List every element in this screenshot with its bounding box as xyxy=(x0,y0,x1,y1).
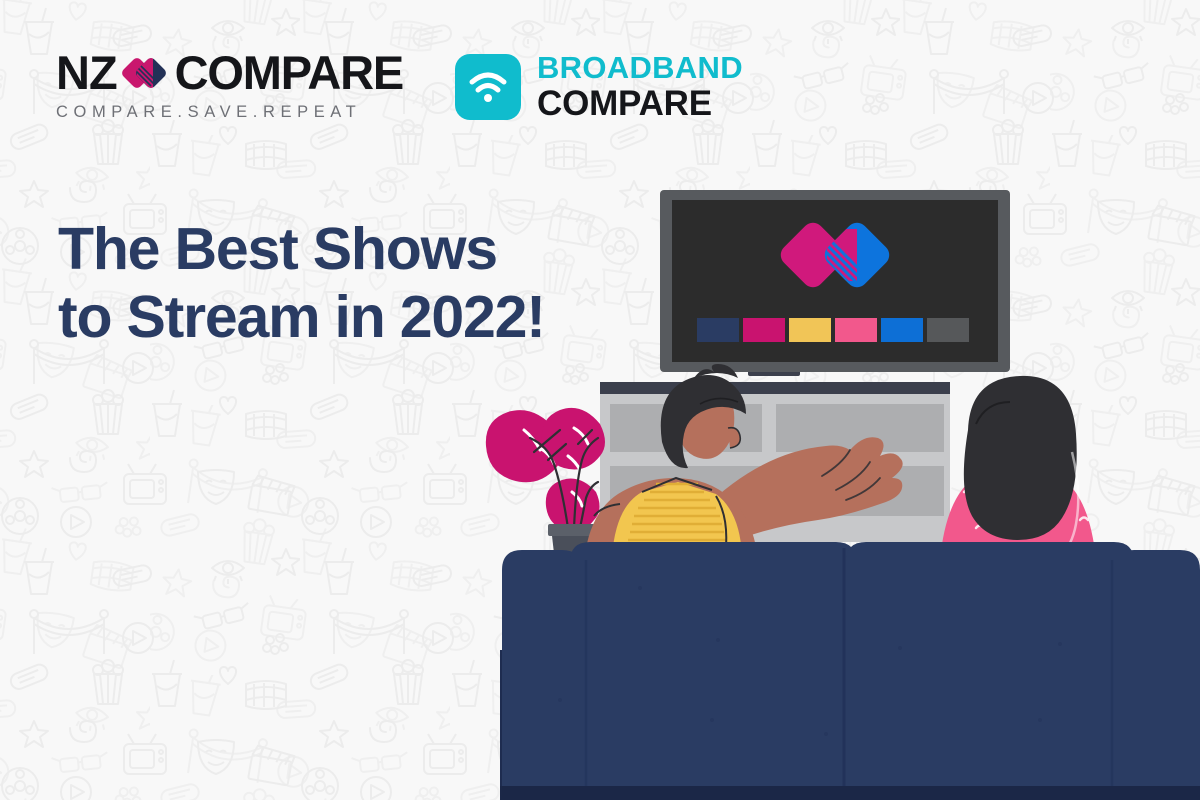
broadband-compare-tile xyxy=(455,54,521,120)
nz-compare-logo[interactable]: NZ COMPARE CO xyxy=(56,48,406,120)
nz-compare-tagline: COMPARE.SAVE.REPEAT xyxy=(56,103,406,122)
couch-cushion-right xyxy=(846,542,1134,800)
nz-compare-diamonds-icon xyxy=(121,56,173,90)
tile-gold xyxy=(789,318,831,342)
poster-canvas: NZ COMPARE CO xyxy=(0,0,1200,800)
broadband-compare-line1: BROADBAND xyxy=(537,52,743,83)
couch xyxy=(500,542,1200,800)
television xyxy=(660,190,1010,376)
broadband-compare-line2: COMPARE xyxy=(537,86,743,121)
tile-pink xyxy=(835,318,877,342)
tile-blue xyxy=(881,318,923,342)
couch-foot-bar xyxy=(500,786,1200,800)
broadband-compare-logo[interactable]: BROADBAND COMPARE xyxy=(455,52,743,121)
tile-grey xyxy=(927,318,969,342)
headline-line-2: to Stream in 2022! xyxy=(58,283,678,351)
brand-header: NZ COMPARE CO xyxy=(0,0,1200,150)
nz-compare-wordmark: NZ COMPARE xyxy=(56,48,406,96)
nz-compare-compare-text: COMPARE xyxy=(175,49,403,96)
person-left-ear xyxy=(728,428,740,448)
headline-line-1: The Best Shows xyxy=(58,216,497,282)
tile-magenta xyxy=(743,318,785,342)
broadband-compare-wordmark: BROADBAND COMPARE xyxy=(537,52,743,121)
couch-cushion-left xyxy=(570,542,856,800)
wifi-icon xyxy=(468,71,508,103)
tile-navy xyxy=(697,318,739,342)
person-right-hair xyxy=(964,376,1077,540)
nz-compare-nz-text: NZ xyxy=(56,49,117,96)
headline: The Best Shows to Stream in 2022! xyxy=(58,215,678,352)
